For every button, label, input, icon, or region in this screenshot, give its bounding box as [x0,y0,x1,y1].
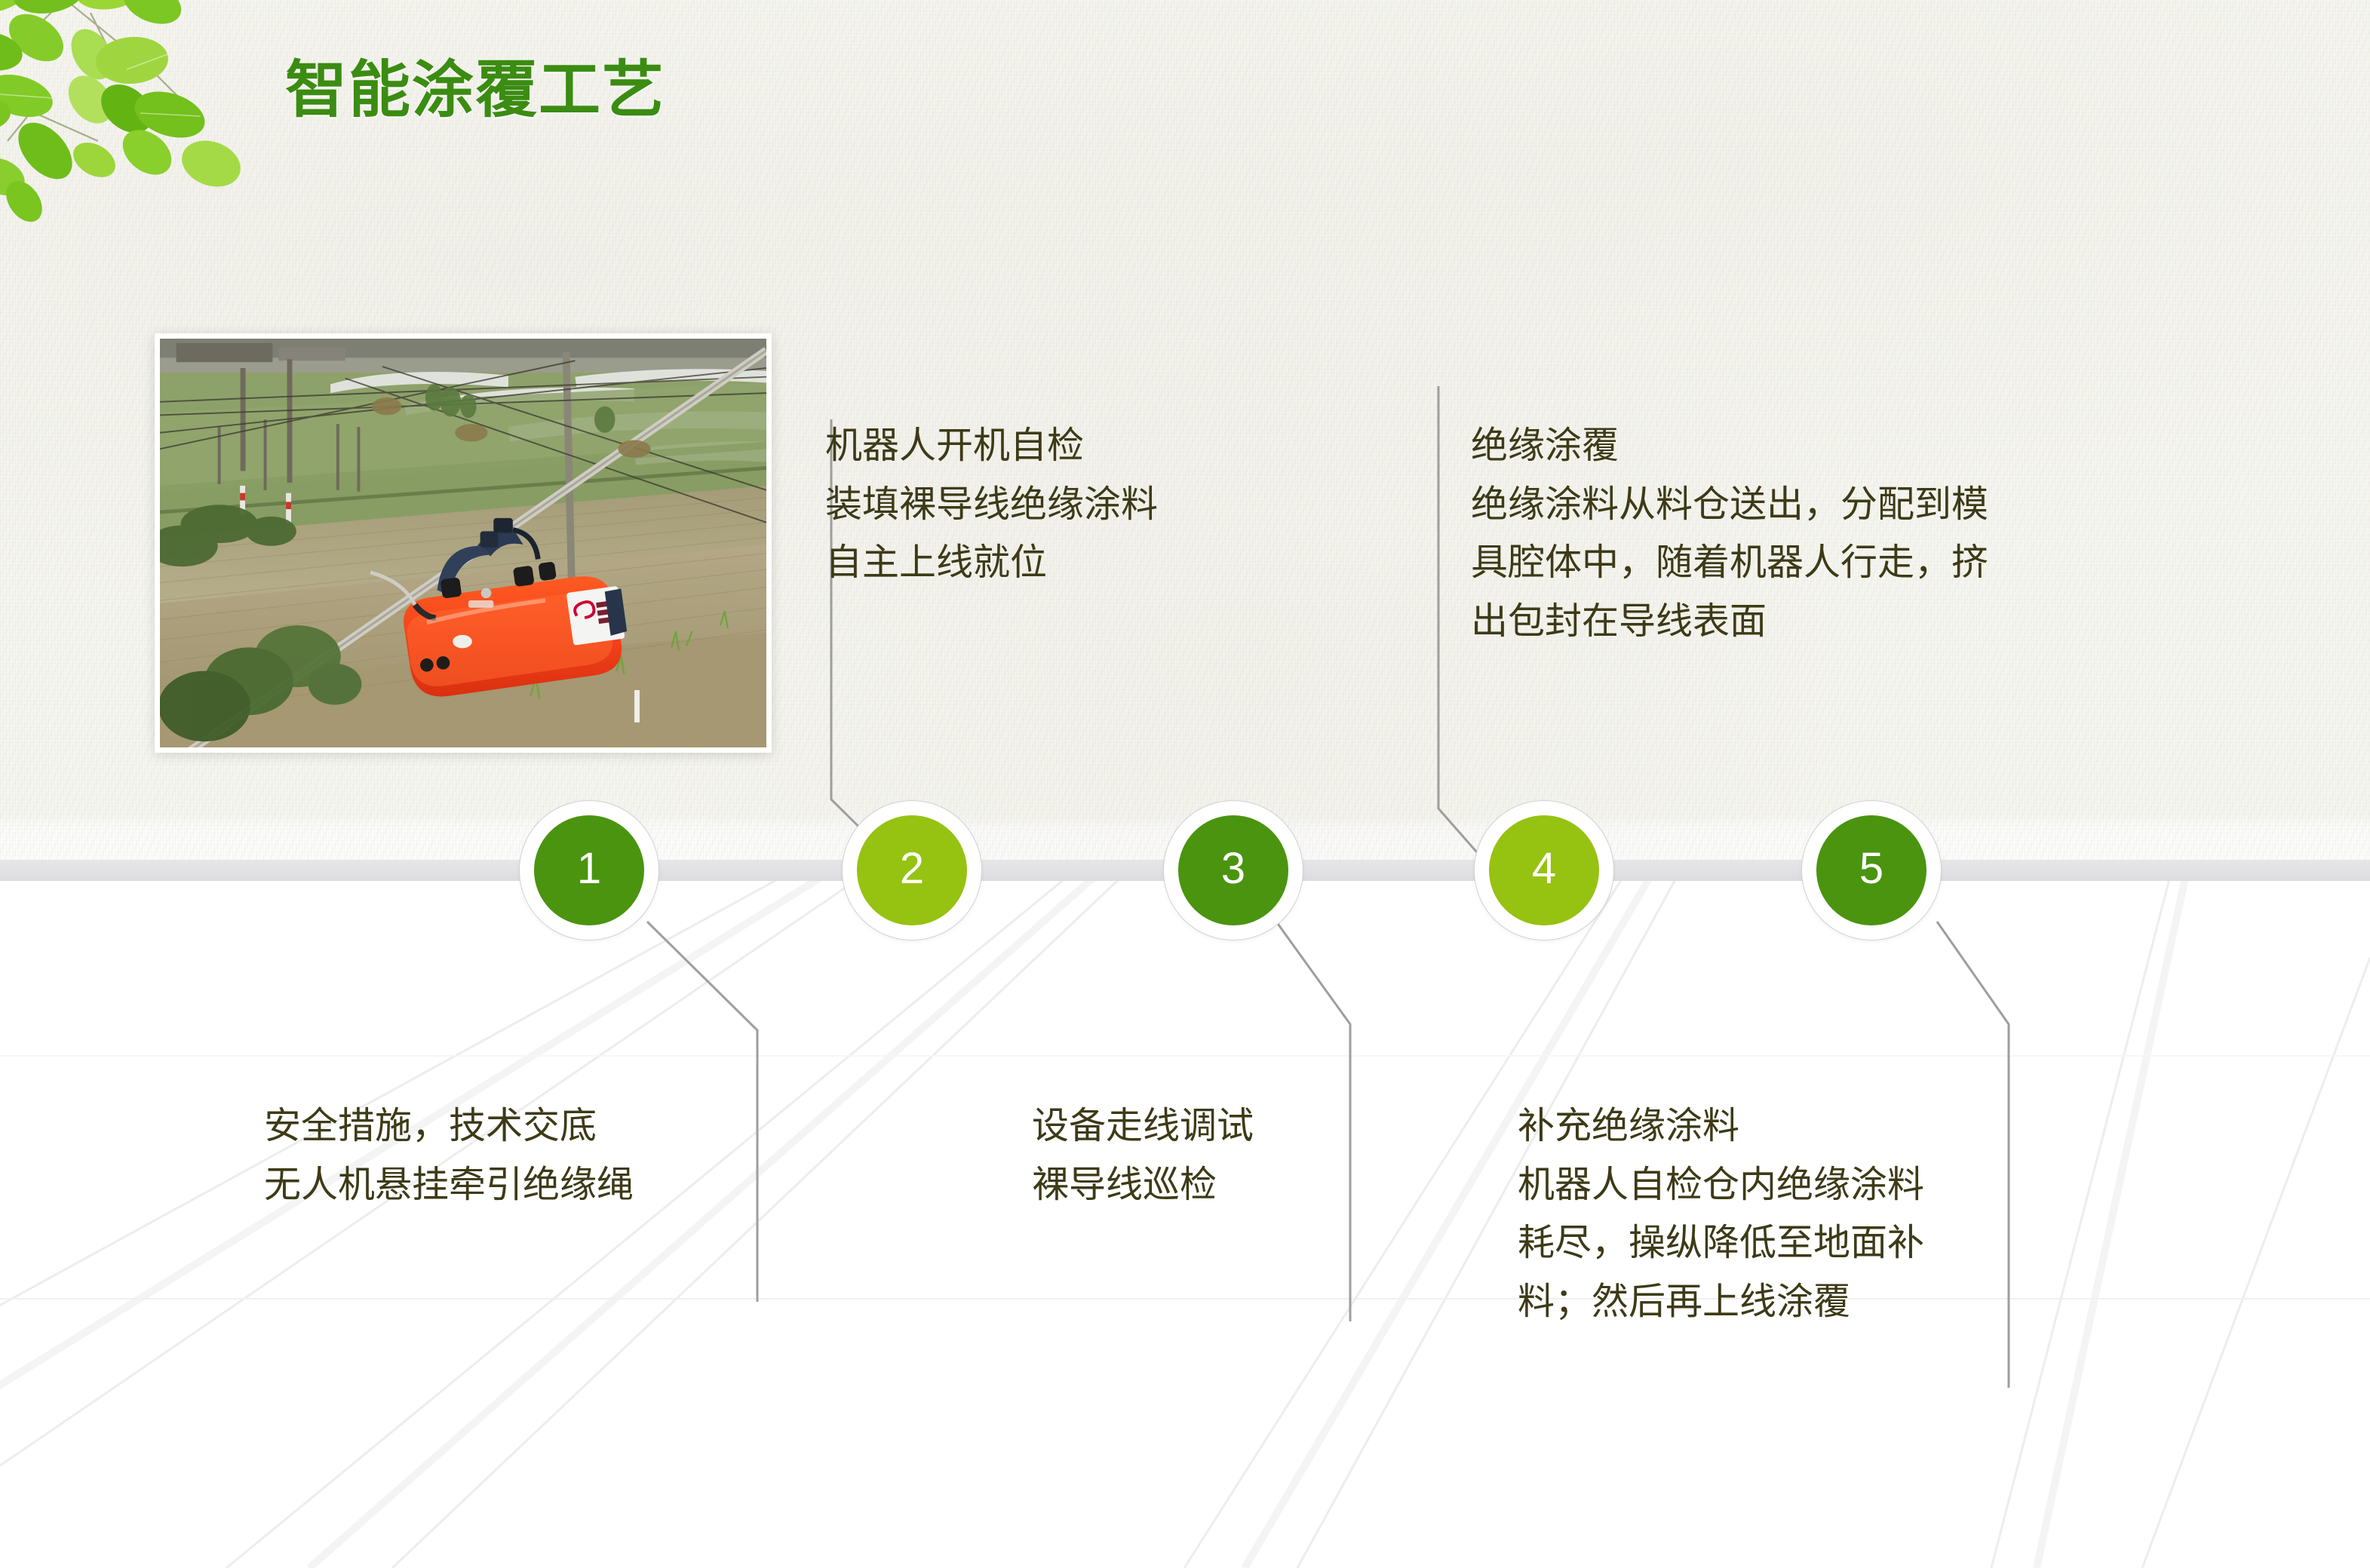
step-text-4: 绝缘涂覆 绝缘涂料从料仓送出，分配到模 具腔体中，随着机器人行走，挤 出包封在导… [1471,421,1988,655]
step-text-4-line-4: 出包封在导线表面 [1471,597,1988,648]
step-node-1[interactable]: 1 [519,800,659,940]
step-number-5: 5 [1859,847,1883,891]
slide-canvas: 智能涂覆工艺 [0,0,2370,1568]
photo-illustration [160,339,766,747]
step-text-2-line-3: 自主上线就位 [825,538,1158,589]
step-disc-5: 5 [1816,815,1926,925]
step-text-2-line-2: 装填裸导线绝缘涂料 [825,480,1158,531]
leaf-decoration-icon [0,0,279,228]
page-title: 智能涂覆工艺 [285,39,665,129]
step-text-5-line-4: 料；然后再上线涂覆 [1518,1277,1924,1328]
step-node-4[interactable]: 4 [1474,800,1614,940]
step-text-4-line-3: 具腔体中，随着机器人行走，挤 [1471,538,1988,589]
step-number-4: 4 [1532,847,1556,891]
step-disc-4: 4 [1489,815,1599,925]
step-text-5-line-1: 补充绝缘涂料 [1518,1101,1924,1152]
step-text-1-line-1: 安全措施，技术交底 [264,1101,634,1152]
step-number-3: 3 [1221,847,1245,891]
step-text-4-line-2: 绝缘涂料从料仓送出，分配到模 [1471,480,1988,531]
step-text-1-line-2: 无人机悬挂牵引绝缘绳 [264,1160,634,1211]
step-disc-3: 3 [1178,815,1288,925]
step-node-2[interactable]: 2 [842,800,982,940]
step-text-3: 设备走线调试 裸导线巡检 [1032,1101,1254,1218]
step-text-5-line-2: 机器人自检仓内绝缘涂料 [1518,1160,1924,1211]
step-disc-2: 2 [857,815,967,925]
step-node-3[interactable]: 3 [1163,800,1303,940]
step-text-3-line-1: 设备走线调试 [1032,1101,1254,1152]
process-photo [155,333,772,753]
step-text-5: 补充绝缘涂料 机器人自检仓内绝缘涂料 耗尽，操纵降低至地面补 料；然后再上线涂覆 [1518,1101,1924,1335]
step-text-2-line-1: 机器人开机自检 [825,421,1158,472]
step-text-1: 安全措施，技术交底 无人机悬挂牵引绝缘绳 [264,1101,634,1218]
step-text-2: 机器人开机自检 装填裸导线绝缘涂料 自主上线就位 [825,421,1158,597]
step-number-2: 2 [900,847,924,891]
step-node-5[interactable]: 5 [1801,800,1942,940]
step-number-1: 1 [577,847,601,891]
step-text-5-line-3: 耗尽，操纵降低至地面补 [1518,1218,1924,1269]
step-text-3-line-2: 裸导线巡检 [1032,1160,1254,1211]
step-disc-1: 1 [534,815,644,925]
step-text-4-line-1: 绝缘涂覆 [1471,421,1988,472]
